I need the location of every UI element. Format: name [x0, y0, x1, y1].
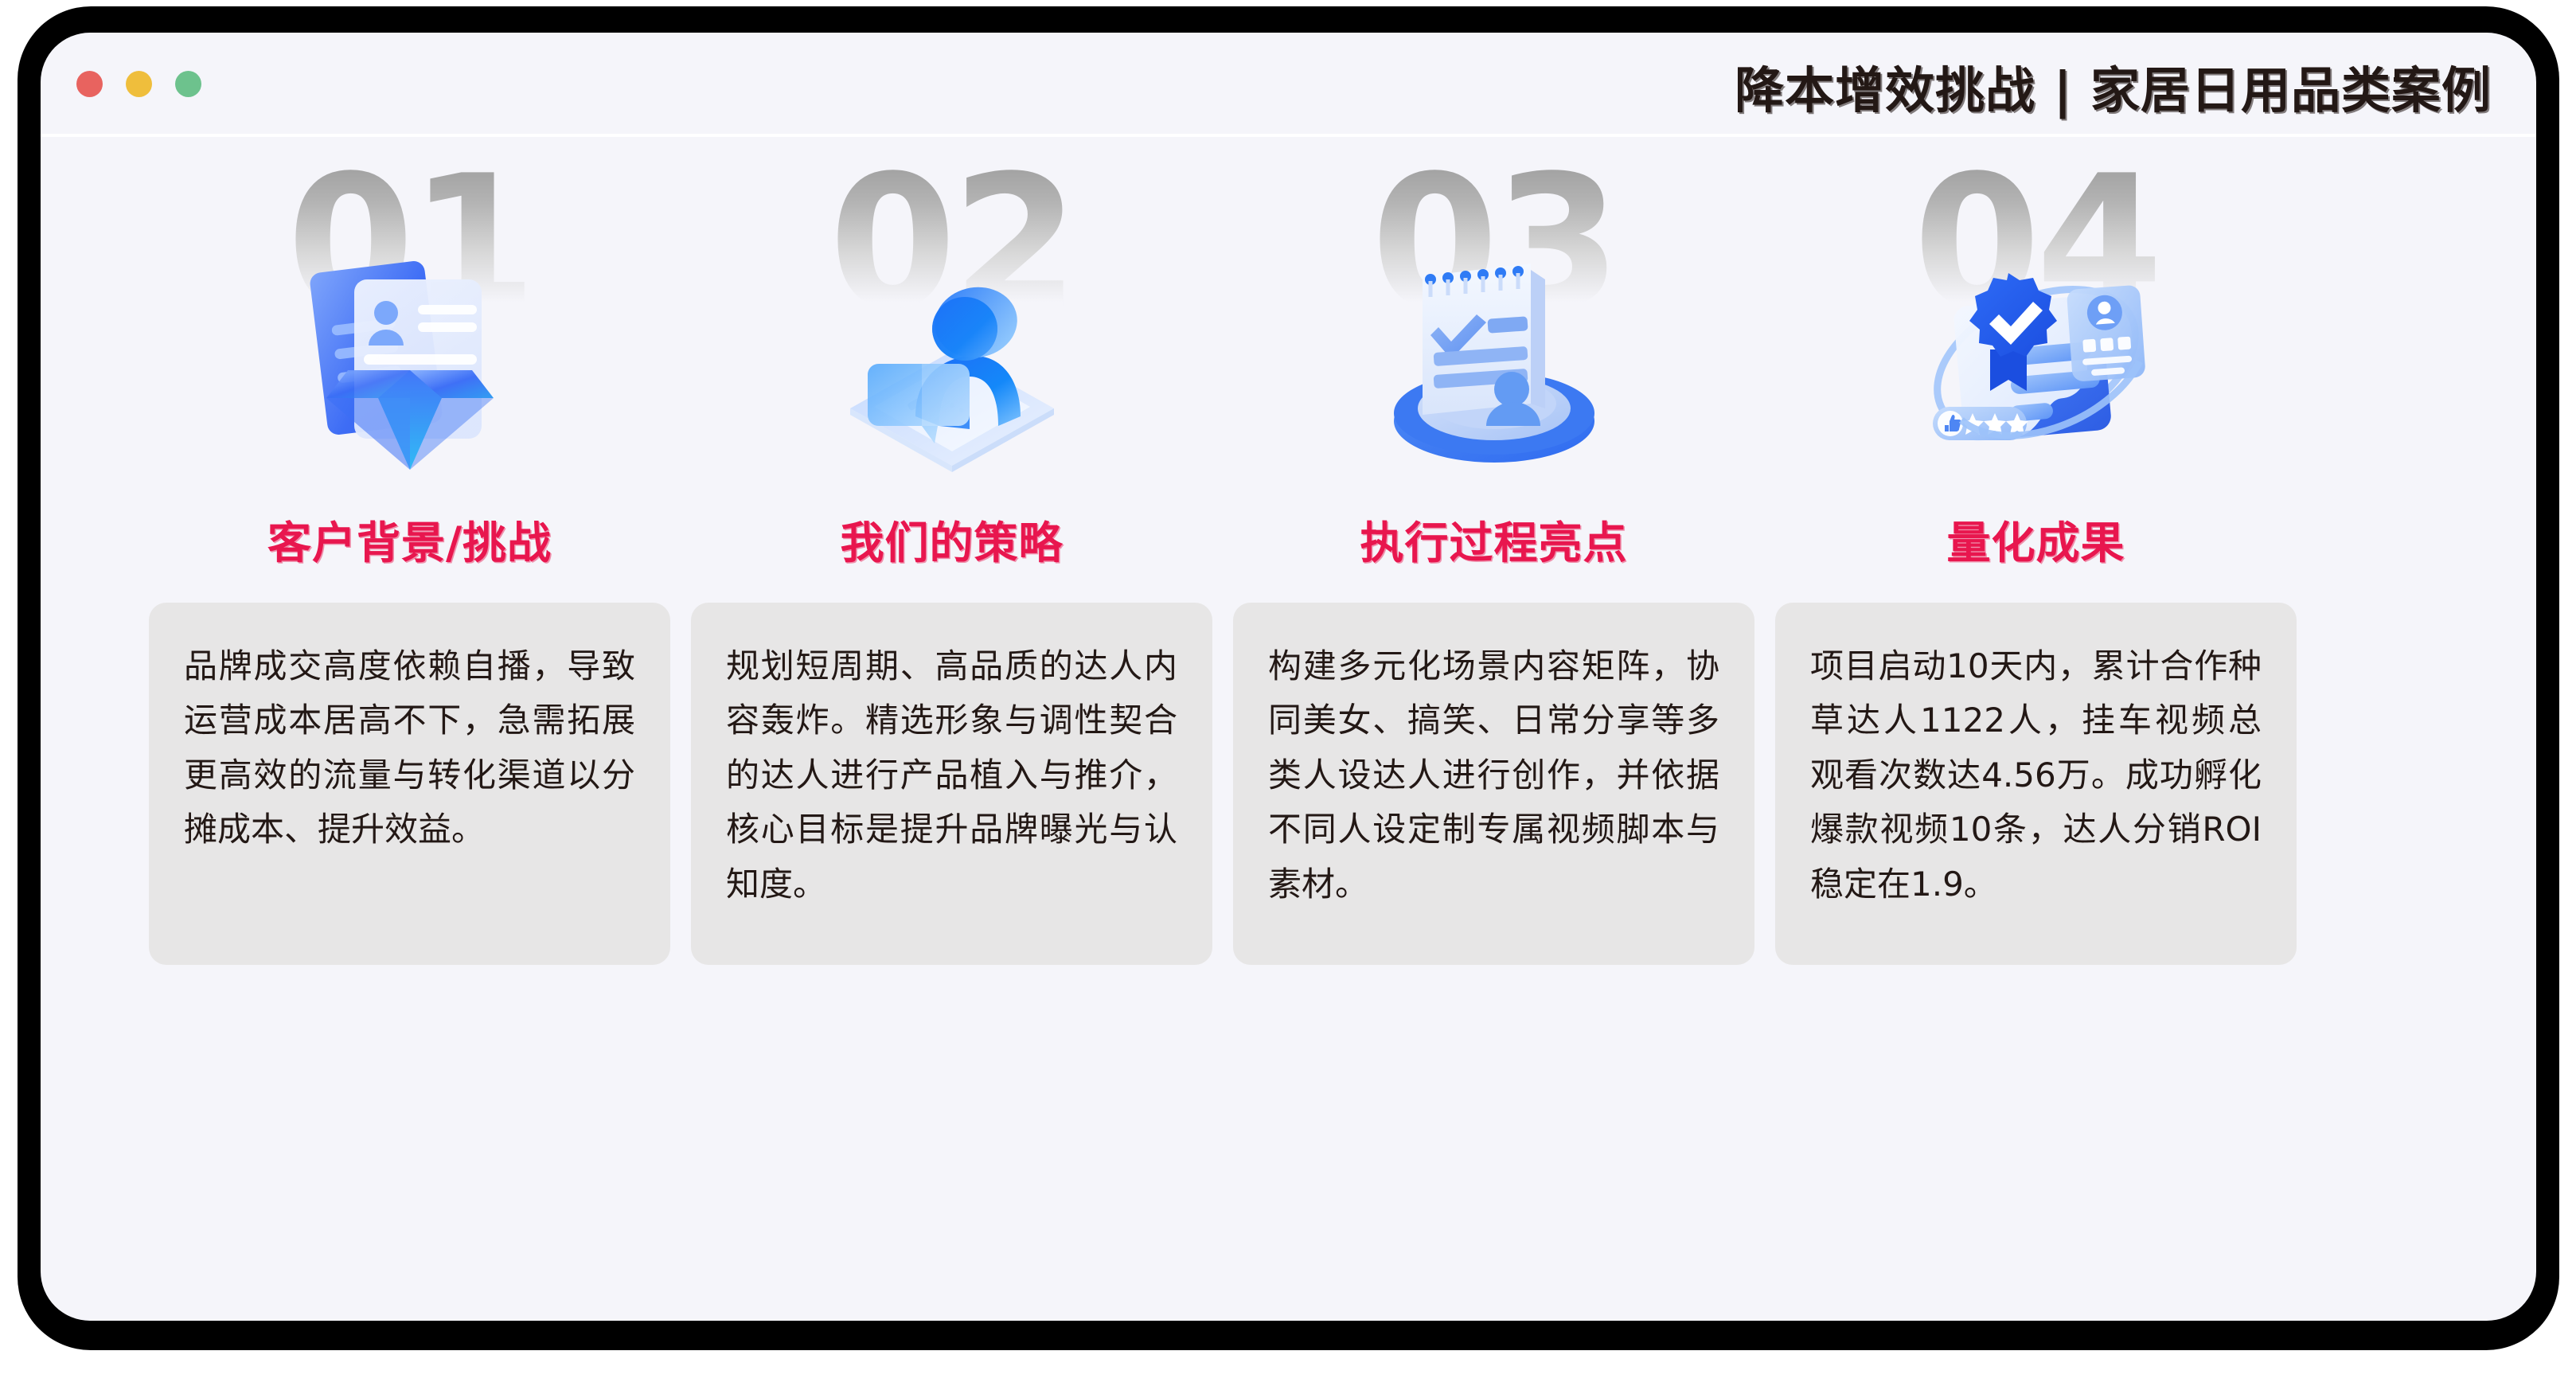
certificate-badge-rating-icon [1917, 235, 2156, 474]
step-card-1: 01 [149, 152, 670, 965]
step-card-3: 03 [1233, 152, 1754, 965]
step-3-illustration: 03 [1327, 152, 1661, 494]
step-3-text-box: 构建多元化场景内容矩阵，协同美女、搞笑、日常分享等多类人设达人进行创作，并依据不… [1233, 603, 1754, 965]
step-card-4: 04 [1775, 152, 2297, 965]
step-4-text: 项目启动10天内，累计合作种草达人1122人，挂车视频总观看次数达4.56万。成… [1810, 639, 2262, 912]
step-card-2: 02 [691, 152, 1212, 965]
close-button[interactable] [76, 71, 103, 97]
step-1-text: 品牌成交高度依赖自播，导致运营成本居高不下，急需拓展更高效的流量与转化渠道以分摊… [184, 639, 635, 857]
title-bar: 降本增效挑战 | 家居日用品类案例 [41, 33, 2536, 130]
browser-window: 降本增效挑战 | 家居日用品类案例 01 [41, 33, 2536, 1321]
browser-device-frame: 降本增效挑战 | 家居日用品类案例 01 [18, 6, 2559, 1350]
step-2-text: 规划短周期、高品质的达人内容轰炸。精选形象与调性契合的达人进行产品植入与推介，核… [726, 639, 1177, 912]
step-4-illustration: 04 [1869, 152, 2203, 494]
minimize-button[interactable] [126, 71, 152, 97]
step-2-heading: 我们的策略 [840, 507, 1063, 571]
steps-row: 01 [41, 152, 2536, 965]
person-chat-platform-icon [833, 235, 1071, 474]
maximize-button[interactable] [175, 71, 201, 97]
id-card-diamond-icon [291, 235, 529, 474]
step-2-illustration: 02 [785, 152, 1119, 494]
step-1-illustration: 01 [243, 152, 577, 494]
step-3-heading: 执行过程亮点 [1360, 507, 1627, 571]
checklist-person-podium-icon [1375, 235, 1614, 474]
traffic-light-buttons [76, 71, 201, 97]
step-1-text-box: 品牌成交高度依赖自播，导致运营成本居高不下，急需拓展更高效的流量与转化渠道以分摊… [149, 603, 670, 965]
step-4-text-box: 项目启动10天内，累计合作种草达人1122人，挂车视频总观看次数达4.56万。成… [1775, 603, 2297, 965]
step-2-text-box: 规划短周期、高品质的达人内容轰炸。精选形象与调性契合的达人进行产品植入与推介，核… [691, 603, 1212, 965]
page-title: 降本增效挑战 | 家居日用品类案例 [1735, 50, 2492, 122]
step-3-text: 构建多元化场景内容矩阵，协同美女、搞笑、日常分享等多类人设达人进行创作，并依据不… [1268, 639, 1719, 912]
step-1-heading: 客户背景/挑战 [267, 507, 552, 571]
step-4-heading: 量化成果 [1946, 507, 2125, 571]
